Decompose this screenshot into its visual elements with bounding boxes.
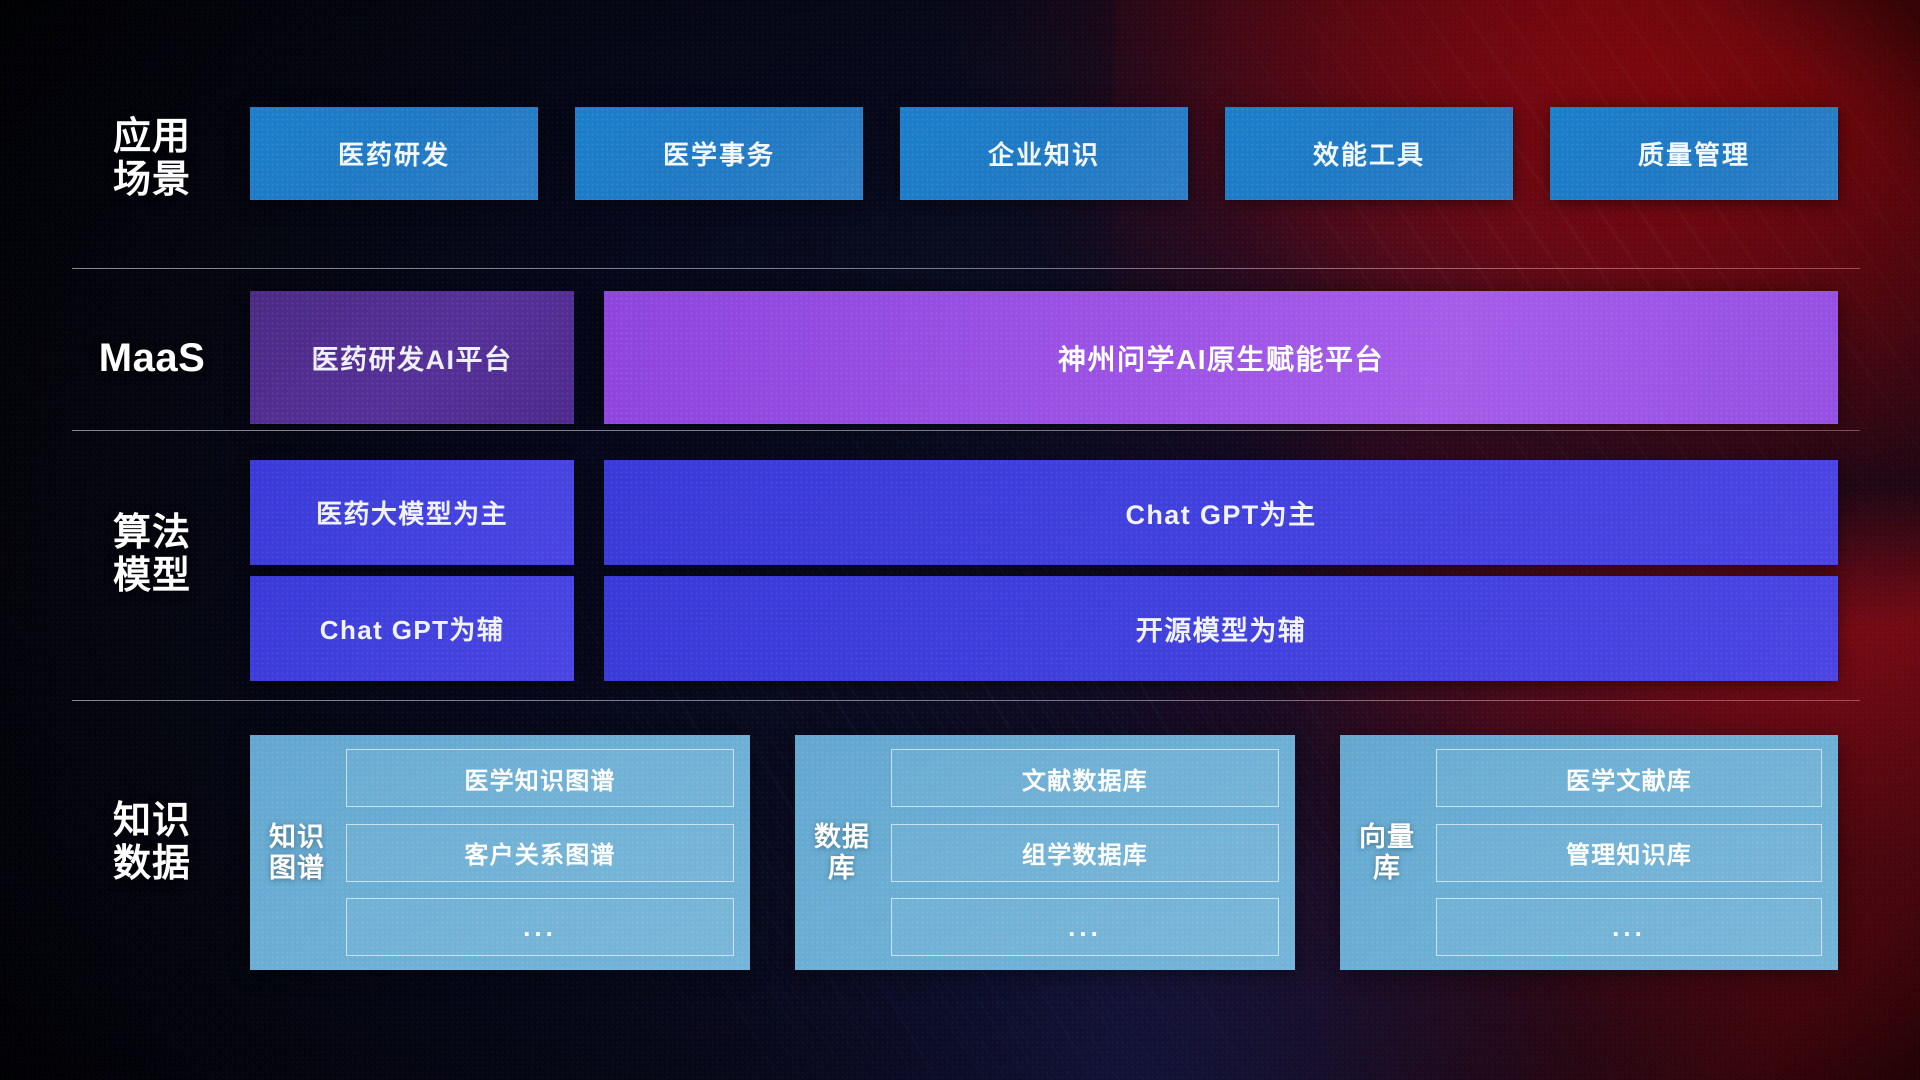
knowledge-item[interactable]: 文献数据库 <box>891 749 1279 807</box>
app-box-medical-affairs[interactable]: 医学事务 <box>575 107 863 200</box>
knowledge-item-list: 文献数据库 组学数据库 ... <box>891 749 1279 956</box>
knowledge-group-title: 知识图谱 <box>264 749 330 956</box>
knowledge-item[interactable]: 管理知识库 <box>1436 824 1822 882</box>
algo-box-chatgpt-primary[interactable]: Chat GPT为主 <box>604 460 1838 565</box>
app-box-efficiency-tools[interactable]: 效能工具 <box>1225 107 1513 200</box>
algo-box-label: 开源模型为辅 <box>1136 609 1306 648</box>
algo-box-pharma-llm-primary[interactable]: 医药大模型为主 <box>250 460 574 565</box>
row-label-maas: MaaS <box>72 336 232 382</box>
knowledge-item[interactable]: 医学知识图谱 <box>346 749 734 807</box>
row-label-application-scenarios: 应用 场景 <box>72 116 232 203</box>
knowledge-item-more[interactable]: ... <box>346 898 734 956</box>
row-label-algorithm-models: 算法 模型 <box>72 512 232 599</box>
divider-line-1 <box>72 268 1860 269</box>
app-box-quality-management[interactable]: 质量管理 <box>1550 107 1838 200</box>
knowledge-group-title: 向量库 <box>1354 749 1420 956</box>
knowledge-group-title: 数据库 <box>809 749 875 956</box>
knowledge-item[interactable]: 医学文献库 <box>1436 749 1822 807</box>
architecture-diagram: 应用 场景 医药研发 医学事务 企业知识 效能工具 质量管理 MaaS 医药研发… <box>0 0 1920 1080</box>
app-box-pharma-rd[interactable]: 医药研发 <box>250 107 538 200</box>
knowledge-item[interactable]: 客户关系图谱 <box>346 824 734 882</box>
maas-box-shenzhou-wenxue-platform[interactable]: 神州问学AI原生赋能平台 <box>604 291 1838 424</box>
app-box-label: 效能工具 <box>1313 135 1425 172</box>
knowledge-item-more[interactable]: ... <box>891 898 1279 956</box>
algo-box-chatgpt-secondary[interactable]: Chat GPT为辅 <box>250 576 574 681</box>
knowledge-group-vector-store[interactable]: 向量库 医学文献库 管理知识库 ... <box>1340 735 1838 970</box>
knowledge-group-database[interactable]: 数据库 文献数据库 组学数据库 ... <box>795 735 1295 970</box>
app-box-label: 质量管理 <box>1638 135 1750 172</box>
knowledge-item-list: 医学知识图谱 客户关系图谱 ... <box>346 749 734 956</box>
knowledge-item-more[interactable]: ... <box>1436 898 1822 956</box>
app-box-label: 企业知识 <box>988 135 1100 172</box>
slide-canvas: 应用 场景 医药研发 医学事务 企业知识 效能工具 质量管理 MaaS 医药研发… <box>0 0 1920 1080</box>
maas-box-label: 医药研发AI平台 <box>312 338 513 377</box>
maas-box-label: 神州问学AI原生赋能平台 <box>1058 338 1384 378</box>
algo-box-label: 医药大模型为主 <box>316 494 508 531</box>
knowledge-group-knowledge-graph[interactable]: 知识图谱 医学知识图谱 客户关系图谱 ... <box>250 735 750 970</box>
app-box-label: 医学事务 <box>663 135 775 172</box>
app-box-label: 医药研发 <box>338 135 450 172</box>
app-box-enterprise-knowledge[interactable]: 企业知识 <box>900 107 1188 200</box>
divider-line-2 <box>72 430 1860 431</box>
algo-box-label: Chat GPT为主 <box>1125 493 1316 532</box>
knowledge-item-list: 医学文献库 管理知识库 ... <box>1436 749 1822 956</box>
row-label-knowledge-data: 知识 数据 <box>72 800 232 887</box>
maas-box-pharma-ai-platform[interactable]: 医药研发AI平台 <box>250 291 574 424</box>
algo-box-label: Chat GPT为辅 <box>320 610 504 647</box>
divider-line-3 <box>72 700 1860 701</box>
algo-box-opensource-secondary[interactable]: 开源模型为辅 <box>604 576 1838 681</box>
knowledge-item[interactable]: 组学数据库 <box>891 824 1279 882</box>
